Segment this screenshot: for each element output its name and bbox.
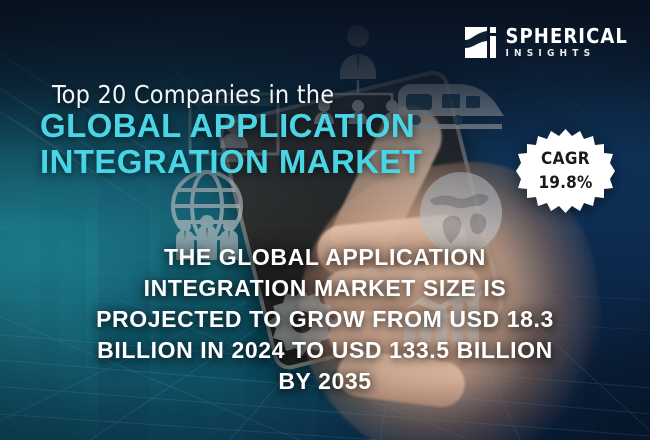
headline-line-1: GLOBAL APPLICATION (40, 108, 480, 144)
cagr-value: 19.8% (538, 173, 592, 193)
brand-name: SPHERICAL (505, 26, 628, 46)
headline-line-2: INTEGRATION MARKET (40, 144, 480, 180)
title-kicker: Top 20 Companies in the (52, 80, 334, 109)
body-line-5: BY 2035 (0, 366, 650, 397)
cagr-label: CAGR (541, 149, 590, 169)
body-line-3: PROJECTED TO GROW FROM USD 18.3 (0, 304, 650, 335)
infographic-canvas: SPHERICAL INSIGHTS Top 20 Companies in t… (0, 0, 650, 440)
cagr-badge-text: CAGR 19.8% (515, 128, 616, 214)
spherical-insights-logo-mark-icon (465, 27, 496, 58)
body-line-1: THE GLOBAL APPLICATION (0, 242, 650, 273)
market-summary-text: THE GLOBAL APPLICATION INTEGRATION MARKE… (0, 242, 650, 397)
page-title: GLOBAL APPLICATION INTEGRATION MARKET (40, 108, 480, 180)
brand-tagline: INSIGHTS (505, 49, 628, 59)
cagr-badge: CAGR 19.8% (515, 128, 616, 214)
body-line-4: BILLION IN 2024 TO USD 133.5 BILLION (0, 335, 650, 366)
brand-logo[interactable]: SPHERICAL INSIGHTS (465, 26, 628, 59)
body-line-2: INTEGRATION MARKET SIZE IS (0, 273, 650, 304)
brand-logo-text: SPHERICAL INSIGHTS (505, 26, 628, 59)
